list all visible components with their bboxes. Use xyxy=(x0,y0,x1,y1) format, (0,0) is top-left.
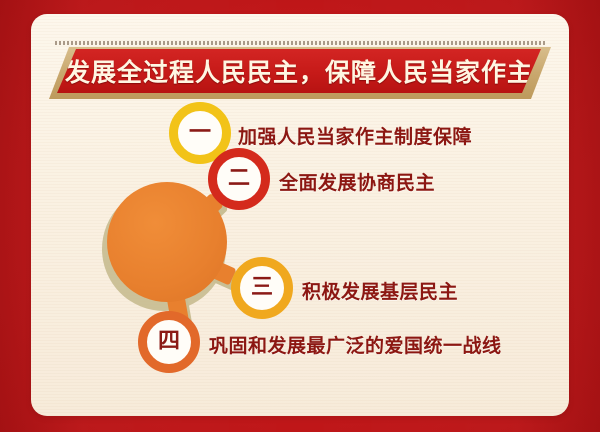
item-label-3: 积极发展基层民主 xyxy=(302,277,458,304)
poster-root: 发展全过程人民民主，保障人民当家作主 一 二 xyxy=(0,0,600,432)
node-circle-4[interactable]: 四 xyxy=(138,311,200,373)
item-label-2: 全面发展协商民主 xyxy=(279,168,435,195)
node-circle-3[interactable]: 三 xyxy=(231,257,293,319)
node-circle-2[interactable]: 二 xyxy=(208,148,270,210)
radial-diagram: 一 二 三 四 加强人民当家作主制度保障 全面发展协商民主 积极发展基层民主 巩… xyxy=(31,14,569,416)
node-number-4: 四 xyxy=(158,331,180,353)
node-number-3: 三 xyxy=(251,277,273,299)
node-number-1: 一 xyxy=(189,122,211,144)
item-label-1: 加强人民当家作主制度保障 xyxy=(238,122,472,149)
item-label-4: 巩固和发展最广泛的爱国统一战线 xyxy=(209,331,502,358)
content-card: 发展全过程人民民主，保障人民当家作主 一 二 xyxy=(31,14,569,416)
node-number-2: 二 xyxy=(228,168,250,190)
hub-circle xyxy=(107,182,227,302)
